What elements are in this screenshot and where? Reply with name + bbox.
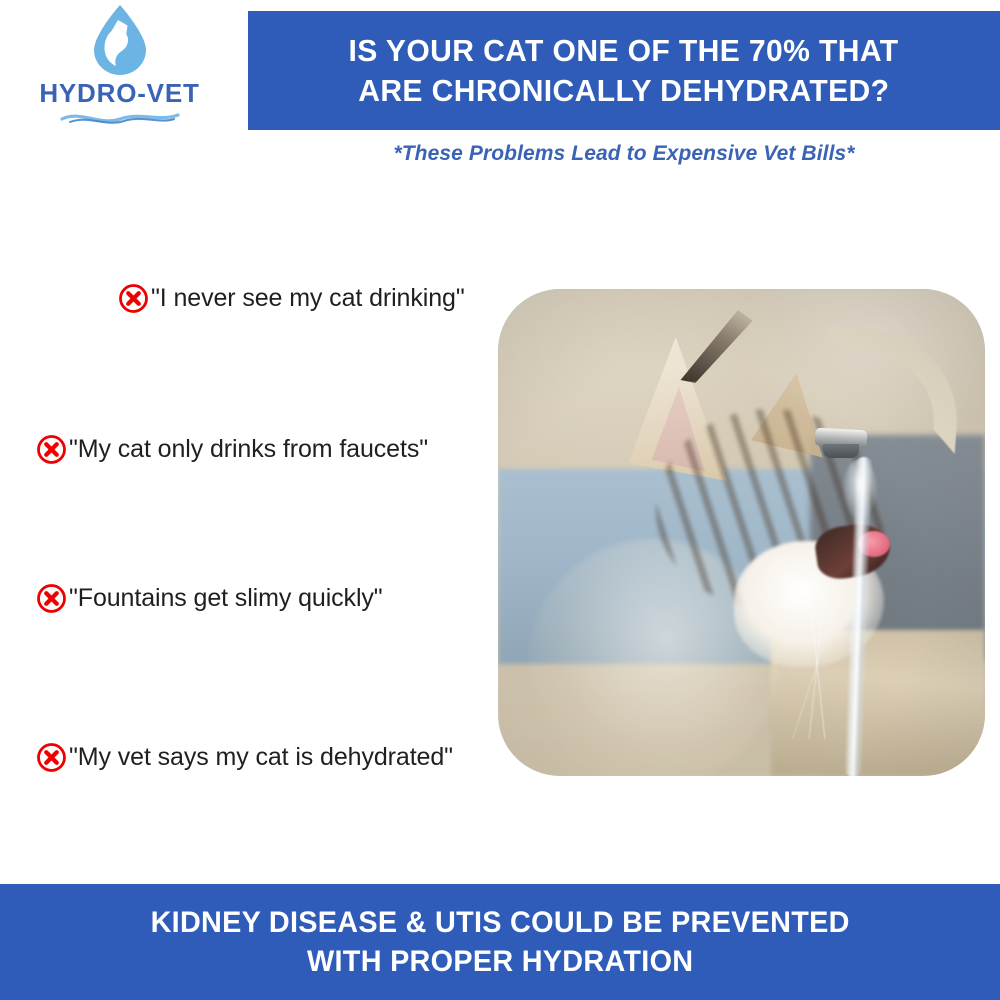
photo-vignette [498, 289, 985, 776]
x-circle-icon [36, 583, 67, 614]
list-item-label: "I never see my cat drinking" [151, 285, 465, 313]
list-item-label: "My vet says my cat is dehydrated" [69, 744, 453, 772]
list-item-label: "Fountains get slimy quickly" [69, 585, 383, 613]
list-item: "My cat only drinks from faucets" [36, 434, 428, 465]
list-item: "My vet says my cat is dehydrated" [36, 742, 453, 773]
footer-headline-line-1: KIDNEY DISEASE & UTIS COULD BE PREVENTED [150, 903, 849, 942]
footer-banner: KIDNEY DISEASE & UTIS COULD BE PREVENTED… [0, 884, 1000, 1000]
pain-points-list: "I never see my cat drinking" "My cat on… [0, 0, 520, 1000]
footer-headline-line-2: WITH PROPER HYDRATION [307, 942, 693, 981]
cat-drinking-from-faucet-photo [498, 289, 985, 776]
list-item: "I never see my cat drinking" [118, 283, 465, 314]
list-item-label: "My cat only drinks from faucets" [69, 436, 428, 464]
x-circle-icon [36, 742, 67, 773]
x-circle-icon [118, 283, 149, 314]
list-item: "Fountains get slimy quickly" [36, 583, 383, 614]
x-circle-icon [36, 434, 67, 465]
